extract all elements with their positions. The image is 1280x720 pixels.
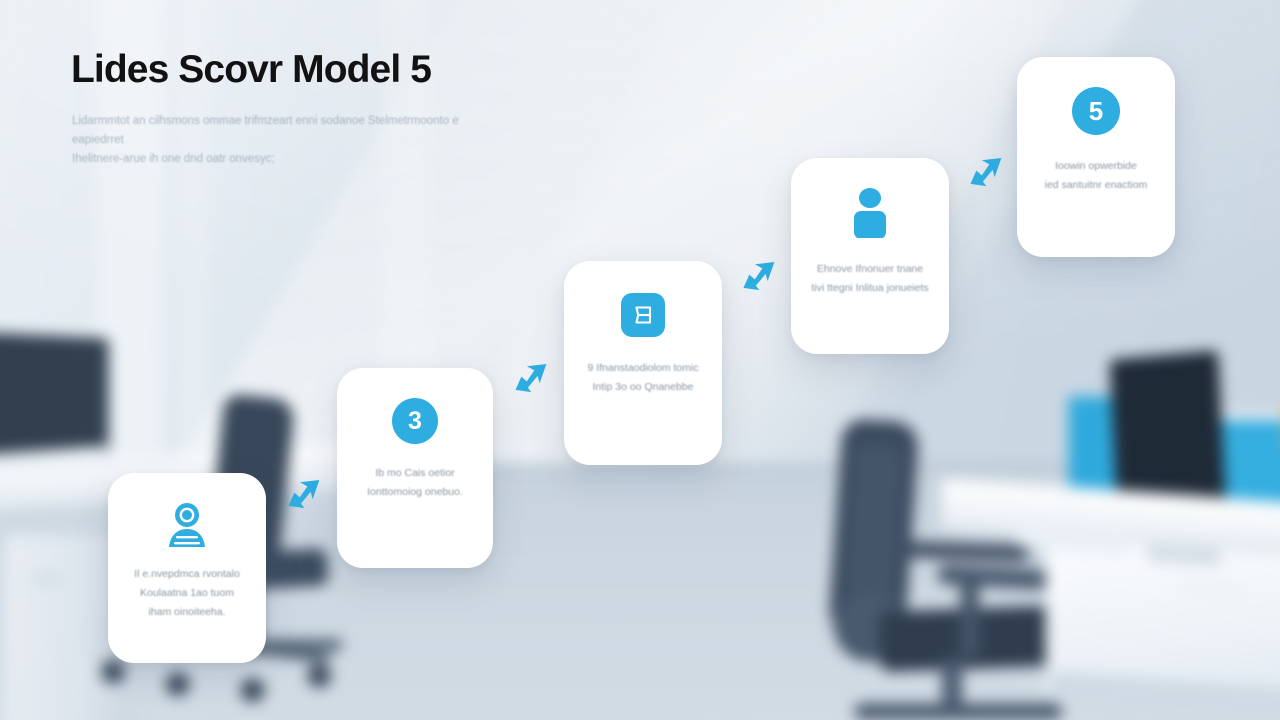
step-number-badge: 3 <box>392 398 438 444</box>
step-card-3[interactable]: 9 Ifnanstaodiolom tomic Intip 3o oo Qnan… <box>564 261 722 465</box>
card-line: Koulaatna 1ao tuom <box>122 584 252 603</box>
card-line: 9 Ifnanstaodiolom tomic <box>578 359 708 378</box>
step-card-4-text: Ehnove Ifnonuer tnane tivi ttegni Inlitu… <box>791 260 949 298</box>
step-number-value: 5 <box>1072 87 1120 135</box>
slide-content: Lides Scovr Model 5 Lidarmmtot an cilhsm… <box>0 0 1280 720</box>
card-line: iham oinoiteeha. <box>122 603 252 622</box>
flow-arrow-step4-to-step5 <box>962 150 1010 198</box>
page-title: Lides Scovr Model 5 <box>71 48 431 92</box>
card-line: Ib mo Cais oetior <box>351 464 479 483</box>
document-tile-background <box>621 293 665 337</box>
subtitle-line-2: Ihelitnere-arue ih one dnd oatr onvesyc; <box>72 150 502 169</box>
card-line: ied santuitnr enactiom <box>1031 176 1161 195</box>
flow-arrow-step2-to-step3 <box>507 356 555 404</box>
subtitle-line-1: Lidarmmtot an cilhsmons ommae trifmzeart… <box>72 112 502 150</box>
step-card-2-text: Ib mo Cais oetior Ionttomoiog onebuo. <box>337 464 493 502</box>
step-card-3-text: 9 Ifnanstaodiolom tomic Intip 3o oo Qnan… <box>564 359 722 397</box>
slide-canvas: Lides Scovr Model 5 Lidarmmtot an cilhsm… <box>0 0 1280 720</box>
step-card-5-text: Ioowin opwerbide ied santuitnr enactiom <box>1017 157 1175 195</box>
step-card-2[interactable]: 3 Ib mo Cais oetior Ionttomoiog onebuo. <box>337 368 493 568</box>
step-card-1-text: Il e.nvepdmca rvontalo Koulaatna 1ao tuo… <box>108 565 266 622</box>
step-card-4[interactable]: Ehnove Ifnonuer tnane tivi ttegni Inlitu… <box>791 158 949 354</box>
card-line: Ehnove Ifnonuer tnane <box>805 260 935 279</box>
document-tile-icon <box>621 293 665 337</box>
step-number-badge: 5 <box>1072 87 1120 135</box>
page-subtitle: Lidarmmtot an cilhsmons ommae trifmzeart… <box>72 112 502 169</box>
card-line: Ionttomoiog onebuo. <box>351 483 479 502</box>
card-line: Intip 3o oo Qnanebbe <box>578 378 708 397</box>
flow-arrow-step3-to-step4 <box>735 254 783 302</box>
card-line: Il e.nvepdmca rvontalo <box>122 565 252 584</box>
person-silhouette-icon <box>845 186 895 238</box>
card-line: tivi ttegni Inlitua jonueiets <box>805 279 935 298</box>
user-profile-icon <box>161 501 213 551</box>
card-line: Ioowin opwerbide <box>1031 157 1161 176</box>
step-number-value: 3 <box>392 398 438 444</box>
step-card-5[interactable]: 5 Ioowin opwerbide ied santuitnr enactio… <box>1017 57 1175 257</box>
flow-arrow-step1-to-step2 <box>280 472 328 520</box>
step-card-1[interactable]: Il e.nvepdmca rvontalo Koulaatna 1ao tuo… <box>108 473 266 663</box>
